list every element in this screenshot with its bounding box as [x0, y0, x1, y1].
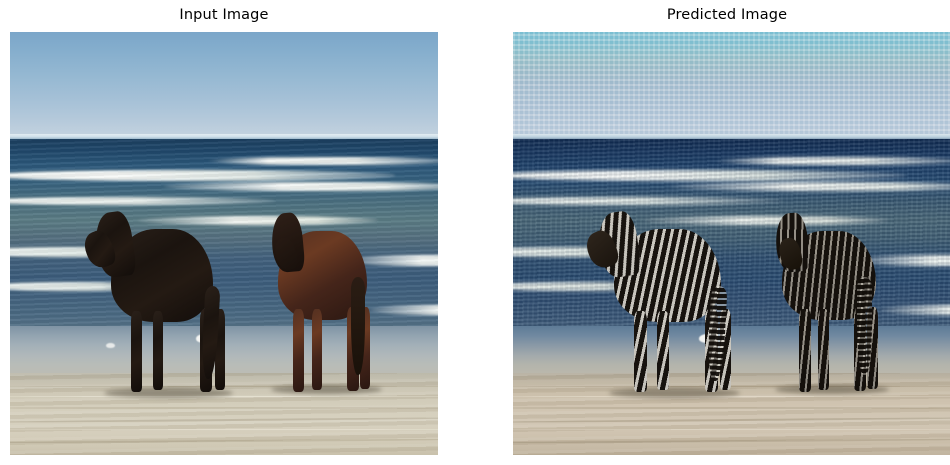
- animal-striped-zebra-left: [614, 229, 721, 322]
- horse-tail: [351, 277, 366, 374]
- wave-foam: [644, 216, 889, 225]
- ocean-region: [513, 139, 950, 331]
- panel-title-predicted: Predicted Image: [513, 7, 941, 23]
- panel-title-input: Input Image: [10, 7, 438, 23]
- wet-sand-region: [513, 326, 950, 377]
- image-axes-predicted[interactable]: [513, 32, 950, 455]
- wave-foam: [670, 182, 950, 192]
- figure-canvas: Input Image: [0, 0, 950, 465]
- animal-dark-horse: [111, 229, 214, 322]
- sky-region: [513, 32, 950, 136]
- zebra-leg: [634, 311, 646, 391]
- horse-leg: [293, 309, 304, 391]
- wave-foam: [370, 305, 438, 315]
- wave-foam: [513, 170, 906, 181]
- wave-foam: [880, 305, 950, 315]
- panel-input: Input Image: [10, 0, 438, 465]
- wave-foam: [164, 182, 438, 192]
- zebra-leg: [799, 309, 811, 391]
- horse-leg: [153, 311, 163, 390]
- wave-foam: [513, 197, 784, 205]
- zebra-leg: [818, 309, 829, 390]
- ocean-region: [10, 139, 438, 331]
- wave-foam: [207, 157, 438, 166]
- horse-leg: [131, 311, 142, 391]
- wave-foam: [10, 170, 395, 181]
- zebra-leg: [657, 311, 668, 390]
- dry-sand-region: [513, 373, 950, 455]
- zebra-tail: [857, 277, 872, 374]
- wave-foam: [10, 197, 275, 205]
- gull: [106, 343, 115, 348]
- image-axes-input[interactable]: [10, 32, 438, 455]
- sky-region: [10, 32, 438, 136]
- sand-tire-tracks: [513, 373, 950, 455]
- wave-foam: [138, 216, 378, 225]
- panel-predicted: Predicted Image: [513, 0, 950, 465]
- wave-foam: [714, 157, 950, 166]
- horse-leg: [312, 309, 322, 390]
